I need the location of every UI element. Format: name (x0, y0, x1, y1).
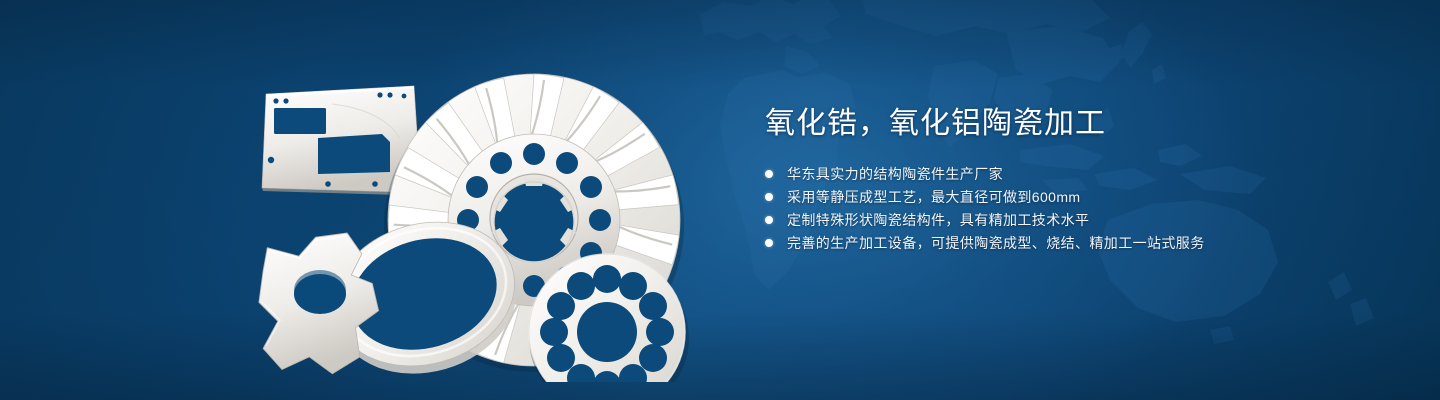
bullet-dot-icon (765, 239, 773, 247)
feature-item-1: 华东具实力的结构陶瓷件生产厂家 (765, 167, 1385, 181)
feature-text-2: 采用等静压成型工艺，最大直径可做到600mm (787, 189, 1080, 205)
feature-text-1: 华东具实力的结构陶瓷件生产厂家 (787, 166, 1003, 182)
feature-item-2: 采用等静压成型工艺，最大直径可做到600mm (765, 190, 1385, 204)
banner-headline: 氧化锆，氧化铝陶瓷加工 (765, 104, 1385, 143)
bullet-dot-icon (765, 193, 773, 201)
banner-feature-list: 华东具实力的结构陶瓷件生产厂家 采用等静压成型工艺，最大直径可做到600mm 定… (765, 167, 1385, 250)
bullet-dot-icon (765, 216, 773, 224)
feature-item-4: 完善的生产加工设备，可提供陶瓷成型、烧结、精加工一站式服务 (765, 236, 1385, 250)
banner-text-column: 氧化锆，氧化铝陶瓷加工 华东具实力的结构陶瓷件生产厂家 采用等静压成型工艺，最大… (765, 104, 1385, 259)
bullet-dot-icon (765, 170, 773, 178)
product-photo-group (232, 42, 702, 382)
feature-text-3: 定制特殊形状陶瓷结构件，具有精加工技术水平 (787, 212, 1089, 228)
feature-item-3: 定制特殊形状陶瓷结构件，具有精加工技术水平 (765, 213, 1385, 227)
feature-text-4: 完善的生产加工设备，可提供陶瓷成型、烧结、精加工一站式服务 (787, 235, 1205, 251)
hero-banner: 氧化锆，氧化铝陶瓷加工 华东具实力的结构陶瓷件生产厂家 采用等静压成型工艺，最大… (0, 0, 1440, 400)
